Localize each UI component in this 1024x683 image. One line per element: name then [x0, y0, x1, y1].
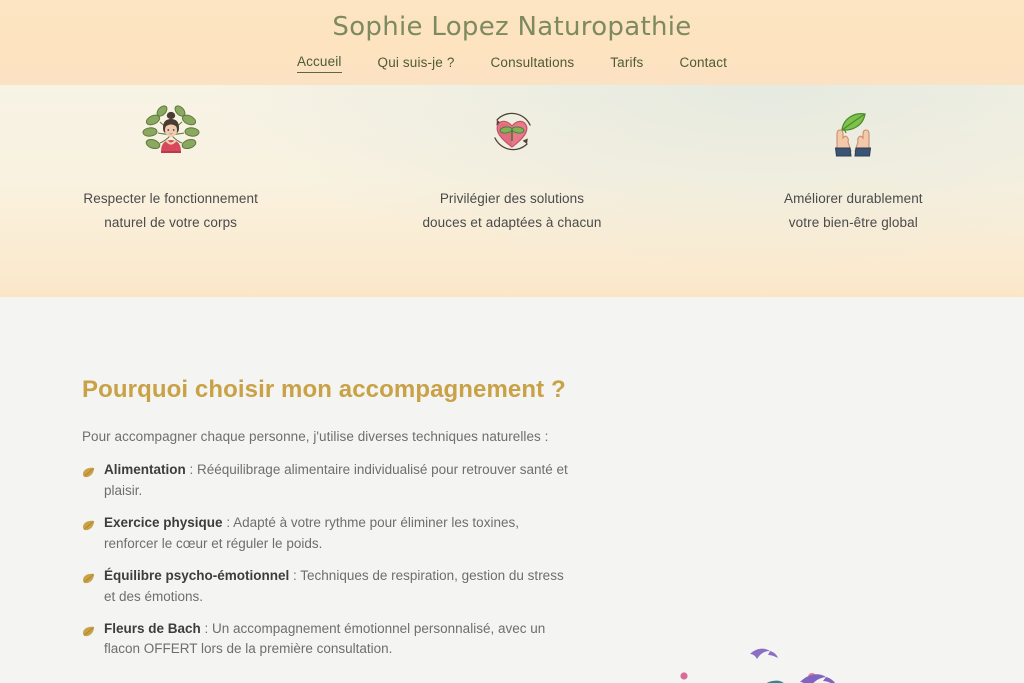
- feature-line-2: naturel de votre corps: [83, 211, 258, 235]
- leaf-bullet-icon: [82, 623, 95, 644]
- main-section: Pourquoi choisir mon accompagnement ? Po…: [0, 297, 1024, 683]
- intro-paragraph: Pour accompagner chaque personne, j'util…: [82, 429, 582, 444]
- site-title: Sophie Lopez Naturopathie: [0, 0, 1024, 43]
- nav-item-qui-suis-je[interactable]: Qui suis-je ?: [378, 55, 455, 73]
- feature-ameliorer: Améliorer durablement votre bien-être gl…: [683, 99, 1024, 234]
- leaf-bullet-icon: [82, 464, 95, 485]
- accompaniment-content: Pourquoi choisir mon accompagnement ? Po…: [82, 375, 582, 683]
- feature-text-privilegier: Privilégier des solutions douces et adap…: [422, 187, 601, 234]
- feature-line-1: Respecter le fonctionnement: [83, 187, 258, 211]
- list-item-text: Alimentation : Rééquilibrage alimentaire…: [104, 460, 570, 502]
- page-title: Pourquoi choisir mon accompagnement ?: [82, 375, 582, 405]
- feature-privilegier: Privilégier des solutions douces et adap…: [341, 99, 682, 234]
- feature-line-1: Privilégier des solutions: [422, 187, 601, 211]
- nav-item-accueil[interactable]: Accueil: [297, 54, 342, 73]
- benefit-term: Fleurs de Bach: [104, 621, 201, 636]
- feature-line-2: votre bien-être global: [784, 211, 923, 235]
- benefit-term: Équilibre psycho-émotionnel: [104, 568, 289, 583]
- feature-line-2: douces et adaptées à chacun: [422, 211, 601, 235]
- site-header: Sophie Lopez Naturopathie Accueil Qui su…: [0, 0, 1024, 85]
- list-item: Exercice physique : Adapté à votre rythm…: [82, 513, 570, 555]
- feature-line-1: Améliorer durablement: [784, 187, 923, 211]
- ornamental-tree-illustration: [624, 642, 924, 683]
- feature-text-ameliorer: Améliorer durablement votre bien-être gl…: [784, 187, 923, 234]
- main-navigation: Accueil Qui suis-je ? Consultations Tari…: [0, 54, 1024, 73]
- list-item: Alimentation : Rééquilibrage alimentaire…: [82, 460, 570, 502]
- feature-respecter: Respecter le fonctionnement naturel de v…: [0, 99, 341, 234]
- nav-item-contact[interactable]: Contact: [679, 55, 727, 73]
- woman-with-leaves-icon: [139, 99, 203, 165]
- list-item-text: Exercice physique : Adapté à votre rythm…: [104, 513, 570, 555]
- features-band: Respecter le fonctionnement naturel de v…: [0, 85, 1024, 297]
- list-item-text: Fleurs de Bach : Un accompagnement émoti…: [104, 619, 570, 661]
- benefit-term: Exercice physique: [104, 515, 223, 530]
- feature-text-respecter: Respecter le fonctionnement naturel de v…: [83, 187, 258, 234]
- leaf-bullet-icon: [82, 570, 95, 591]
- list-item-text: Équilibre psycho-émotionnel : Techniques…: [104, 566, 570, 608]
- nav-item-consultations[interactable]: Consultations: [491, 55, 575, 73]
- benefit-term: Alimentation: [104, 462, 186, 477]
- benefit-list: Alimentation : Rééquilibrage alimentaire…: [82, 460, 582, 660]
- heart-sprout-cycle-icon: [480, 99, 544, 165]
- leaf-bullet-icon: [82, 517, 95, 538]
- hands-holding-leaf-icon: [821, 99, 885, 165]
- list-item: Fleurs de Bach : Un accompagnement émoti…: [82, 619, 570, 661]
- nav-item-tarifs[interactable]: Tarifs: [610, 55, 643, 73]
- list-item: Équilibre psycho-émotionnel : Techniques…: [82, 566, 570, 608]
